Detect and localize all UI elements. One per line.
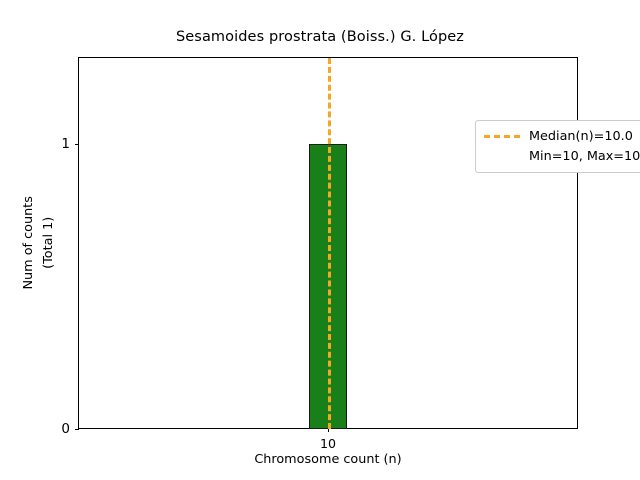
x-tick-label-10: 10 [320,436,336,451]
y-axis-label-line2: (Total 1) [39,196,59,289]
legend: Median(n)=10.0 Min=10, Max=10 [475,120,640,173]
y-axis-label: Num of counts (Total 1) [26,57,52,429]
legend-label-median: Median(n)=10.0 [529,129,633,144]
y-tick-label-0: 0 [61,421,70,437]
median-line-annotation [328,58,331,429]
dashed-line-icon [484,135,520,138]
plot-area: 0 1 10 Median(n)=10.0 Min=10, Max=10 [78,57,578,429]
page-title: Sesamoides prostrata (Boiss.) G. López [0,29,640,45]
legend-item-median: Median(n)=10.0 [484,126,640,146]
y-tick-label-1: 1 [61,136,70,152]
legend-item-minmax: Min=10, Max=10 [484,146,640,166]
y-tick-mark-0 [75,429,79,430]
y-axis-label-line1: Num of counts [19,196,39,289]
chart-figure: Sesamoides prostrata (Boiss.) G. López 0… [0,0,640,480]
y-tick-mark-1 [75,144,79,145]
x-axis-label: Chromosome count (n) [78,452,578,467]
legend-label-minmax: Min=10, Max=10 [529,149,640,164]
